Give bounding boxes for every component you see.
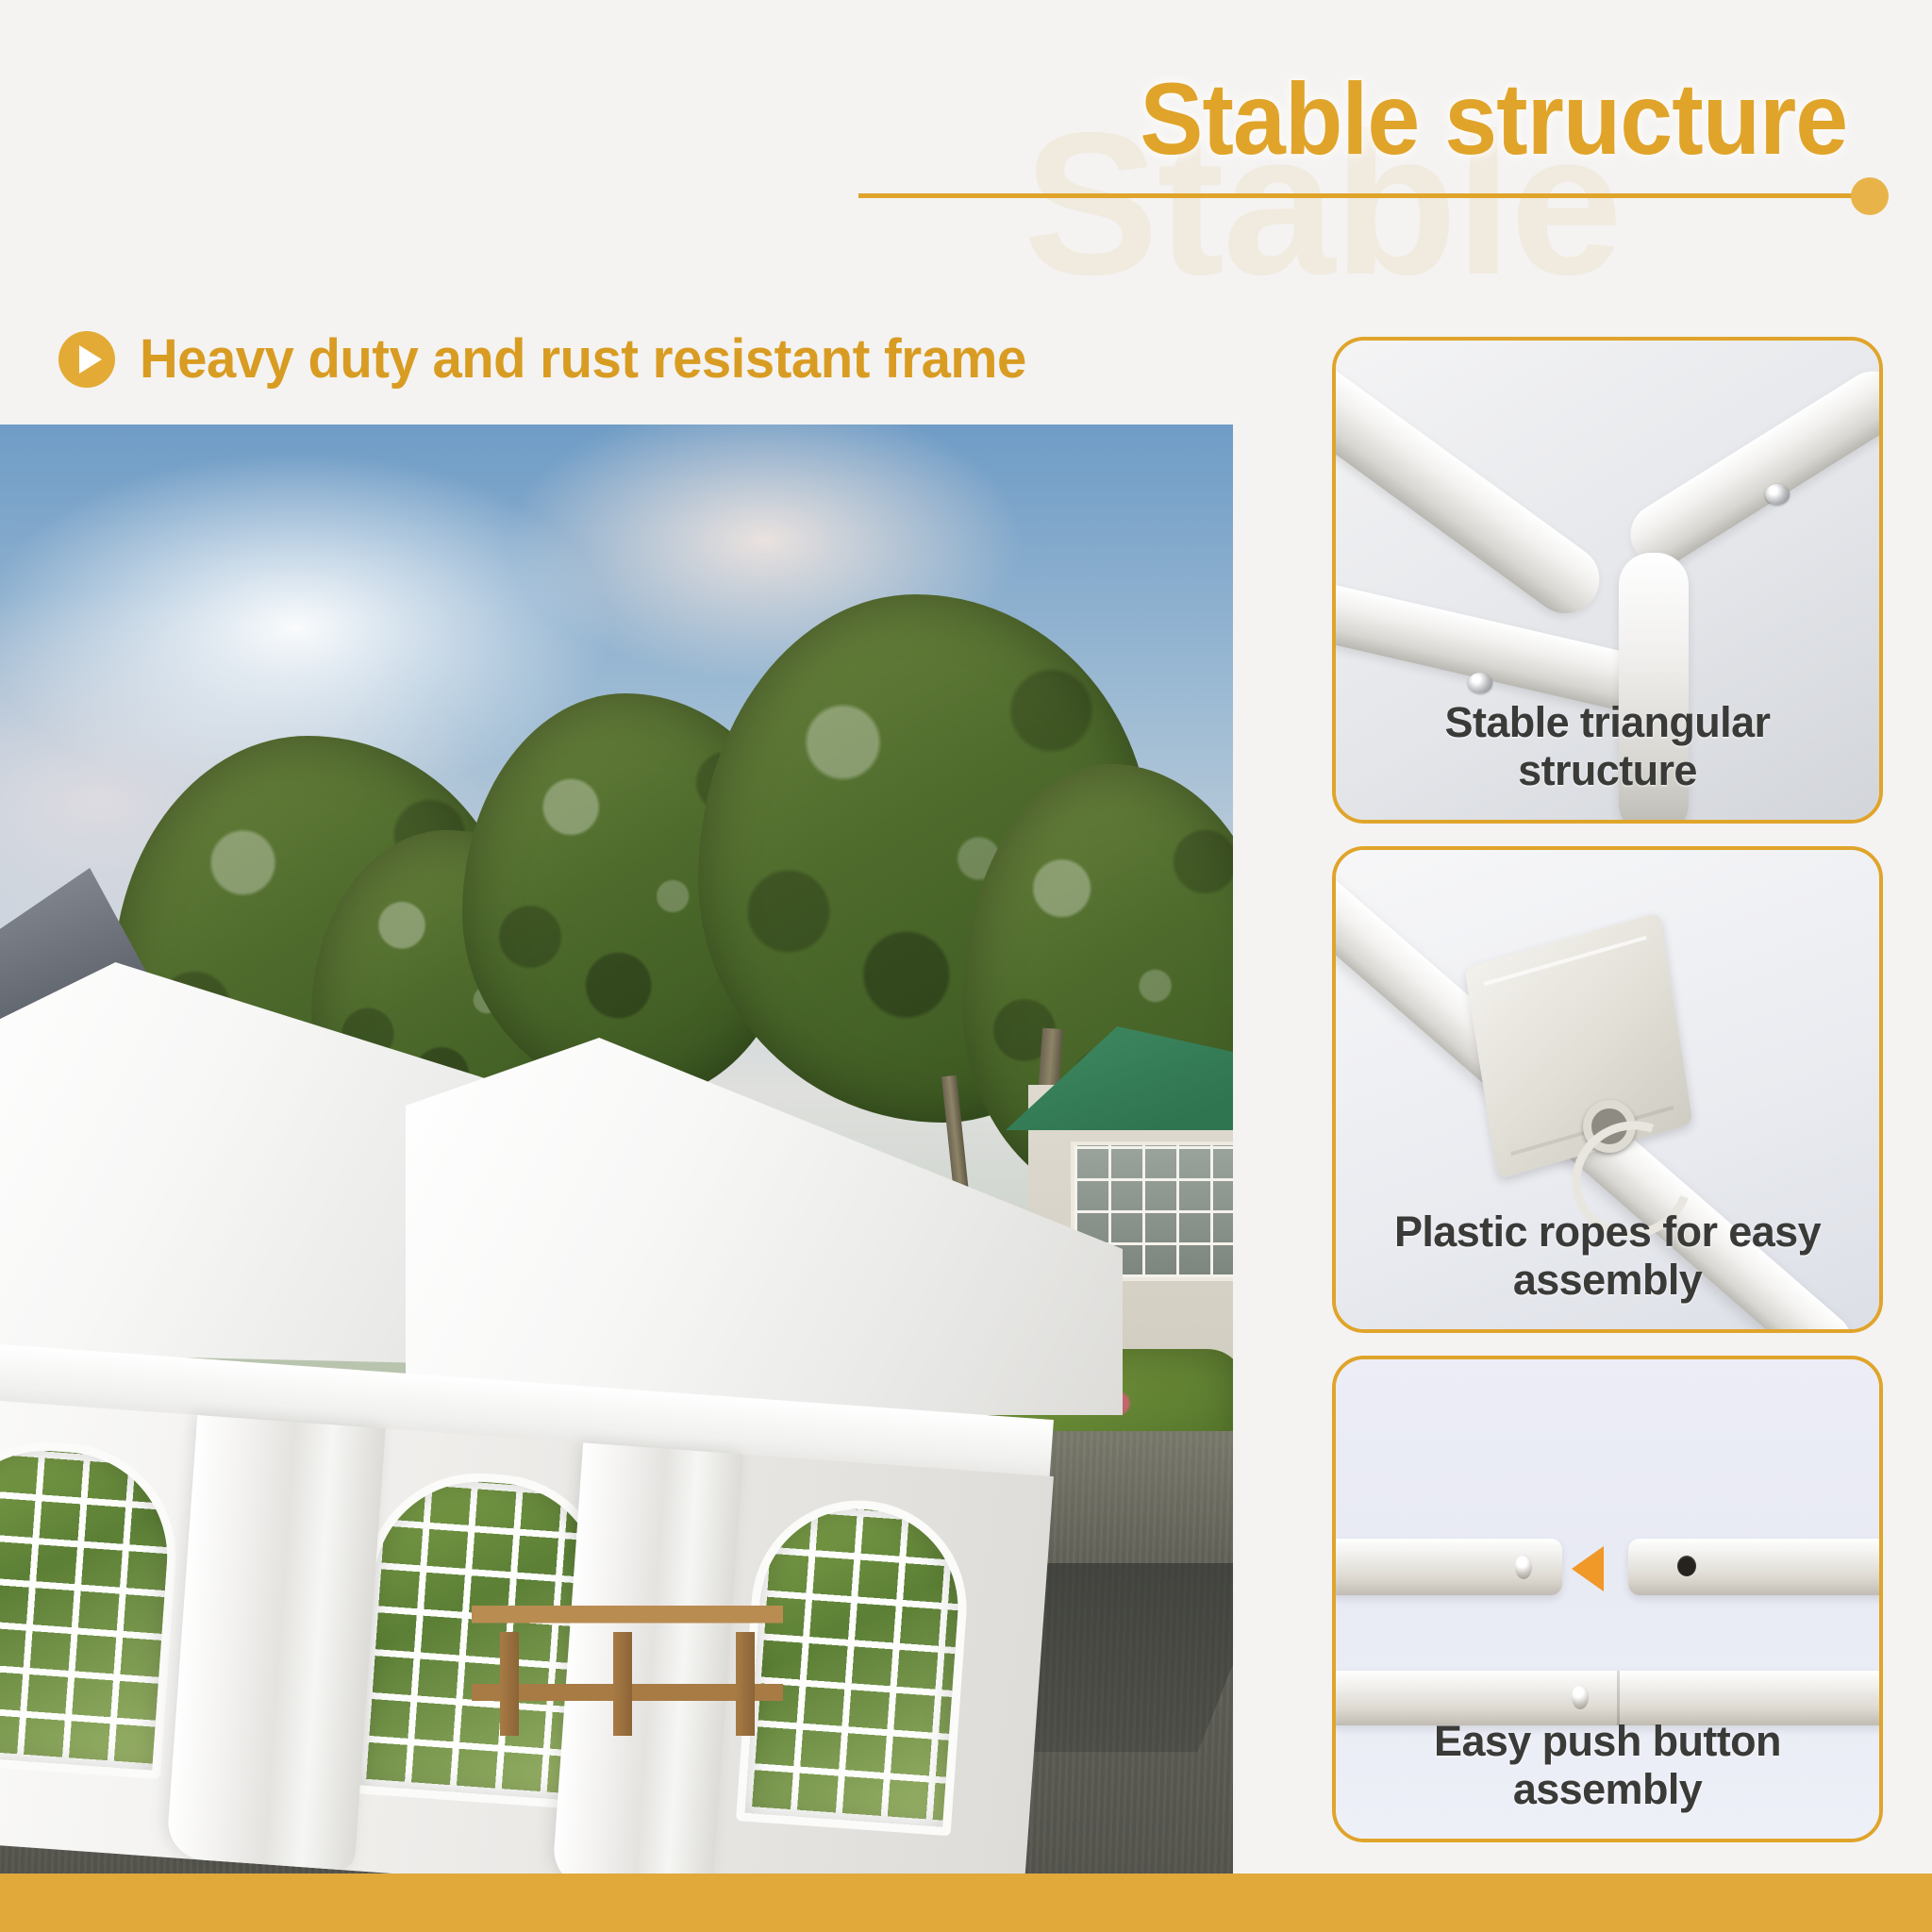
frame-tube	[1332, 350, 1613, 626]
arrow-left-icon	[1572, 1546, 1604, 1591]
tent-lattice-window	[0, 1435, 183, 1780]
push-button-icon	[1572, 1685, 1589, 1709]
feature-card-list: Stable triangular structure Plastic rope…	[1332, 337, 1875, 1842]
page-title: Stable structure	[1140, 68, 1847, 170]
push-button-icon	[1515, 1555, 1532, 1579]
feature-card-push-button[interactable]: Easy push button assembly	[1332, 1356, 1883, 1842]
feature-card-caption: Stable triangular structure	[1336, 699, 1879, 795]
title-underline	[858, 193, 1858, 198]
subheading: Heavy duty and rust resistant frame	[58, 327, 1054, 391]
screw-icon	[1765, 484, 1790, 505]
hero-photo	[0, 425, 1233, 1874]
play-triangle-icon	[58, 331, 115, 388]
feature-card-caption: Easy push button assembly	[1336, 1718, 1879, 1814]
frame-tube	[1619, 359, 1883, 577]
infographic-page: Stable Stable structure Heavy duty and r…	[0, 0, 1932, 1932]
feature-card-stable-triangular-structure[interactable]: Stable triangular structure	[1332, 337, 1883, 824]
tent-roof-peak-right	[406, 1038, 1123, 1415]
header: Stable Stable structure	[0, 0, 1932, 311]
footer-accent-bar	[0, 1874, 1932, 1932]
feature-card-plastic-ropes[interactable]: Plastic ropes for easy assembly	[1332, 846, 1883, 1333]
tent-curtain	[166, 1415, 386, 1871]
bullet-dot-icon	[1851, 177, 1889, 215]
feature-card-caption: Plastic ropes for easy assembly	[1336, 1208, 1879, 1305]
wooden-table	[472, 1519, 783, 1736]
screw-icon	[1468, 673, 1492, 693]
button-hole-icon	[1677, 1556, 1696, 1576]
pole-segment	[1628, 1539, 1883, 1595]
subheading-label: Heavy duty and rust resistant frame	[140, 327, 1026, 391]
